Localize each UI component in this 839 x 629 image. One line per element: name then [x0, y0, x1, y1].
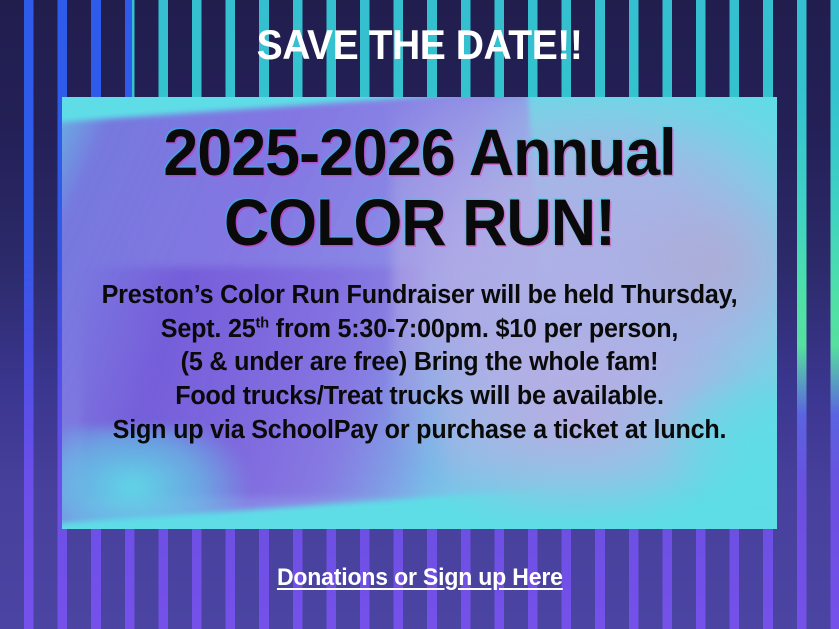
footer-link-container: Donations or Sign up Here [0, 564, 839, 592]
detail-line-time-price: Sept. 25th from 5:30-7:00pm. $10 per per… [67, 313, 771, 347]
card-content: 2025-2026 Annual COLOR RUN! Preston’s Co… [62, 119, 777, 447]
detail-date-prefix: Sept. 25 [161, 315, 256, 343]
donations-signup-link[interactable]: Donations or Sign up Here [277, 564, 563, 592]
event-details: Preston’s Color Run Fundraiser will be h… [62, 279, 777, 447]
detail-line-date: Preston’s Color Run Fundraiser will be h… [67, 279, 771, 313]
ordinal-suffix: th [256, 315, 269, 331]
detail-line-food-trucks: Food trucks/Treat trucks will be availab… [67, 380, 771, 414]
announcement-card: 2025-2026 Annual COLOR RUN! Preston’s Co… [62, 97, 777, 529]
event-title-name: COLOR RUN! [80, 189, 759, 257]
detail-time-price-suffix: from 5:30-7:00pm. $10 per person, [269, 315, 678, 343]
event-title-year: 2025-2026 Annual [80, 119, 759, 187]
detail-line-signup: Sign up via SchoolPay or purchase a tick… [67, 414, 771, 448]
color-run-flyer: SAVE THE DATE!! 2025-2026 Annual COLOR R… [0, 0, 839, 629]
detail-line-free-ages: (5 & under are free) Bring the whole fam… [67, 346, 771, 380]
save-the-date-heading: SAVE THE DATE!! [29, 24, 809, 66]
